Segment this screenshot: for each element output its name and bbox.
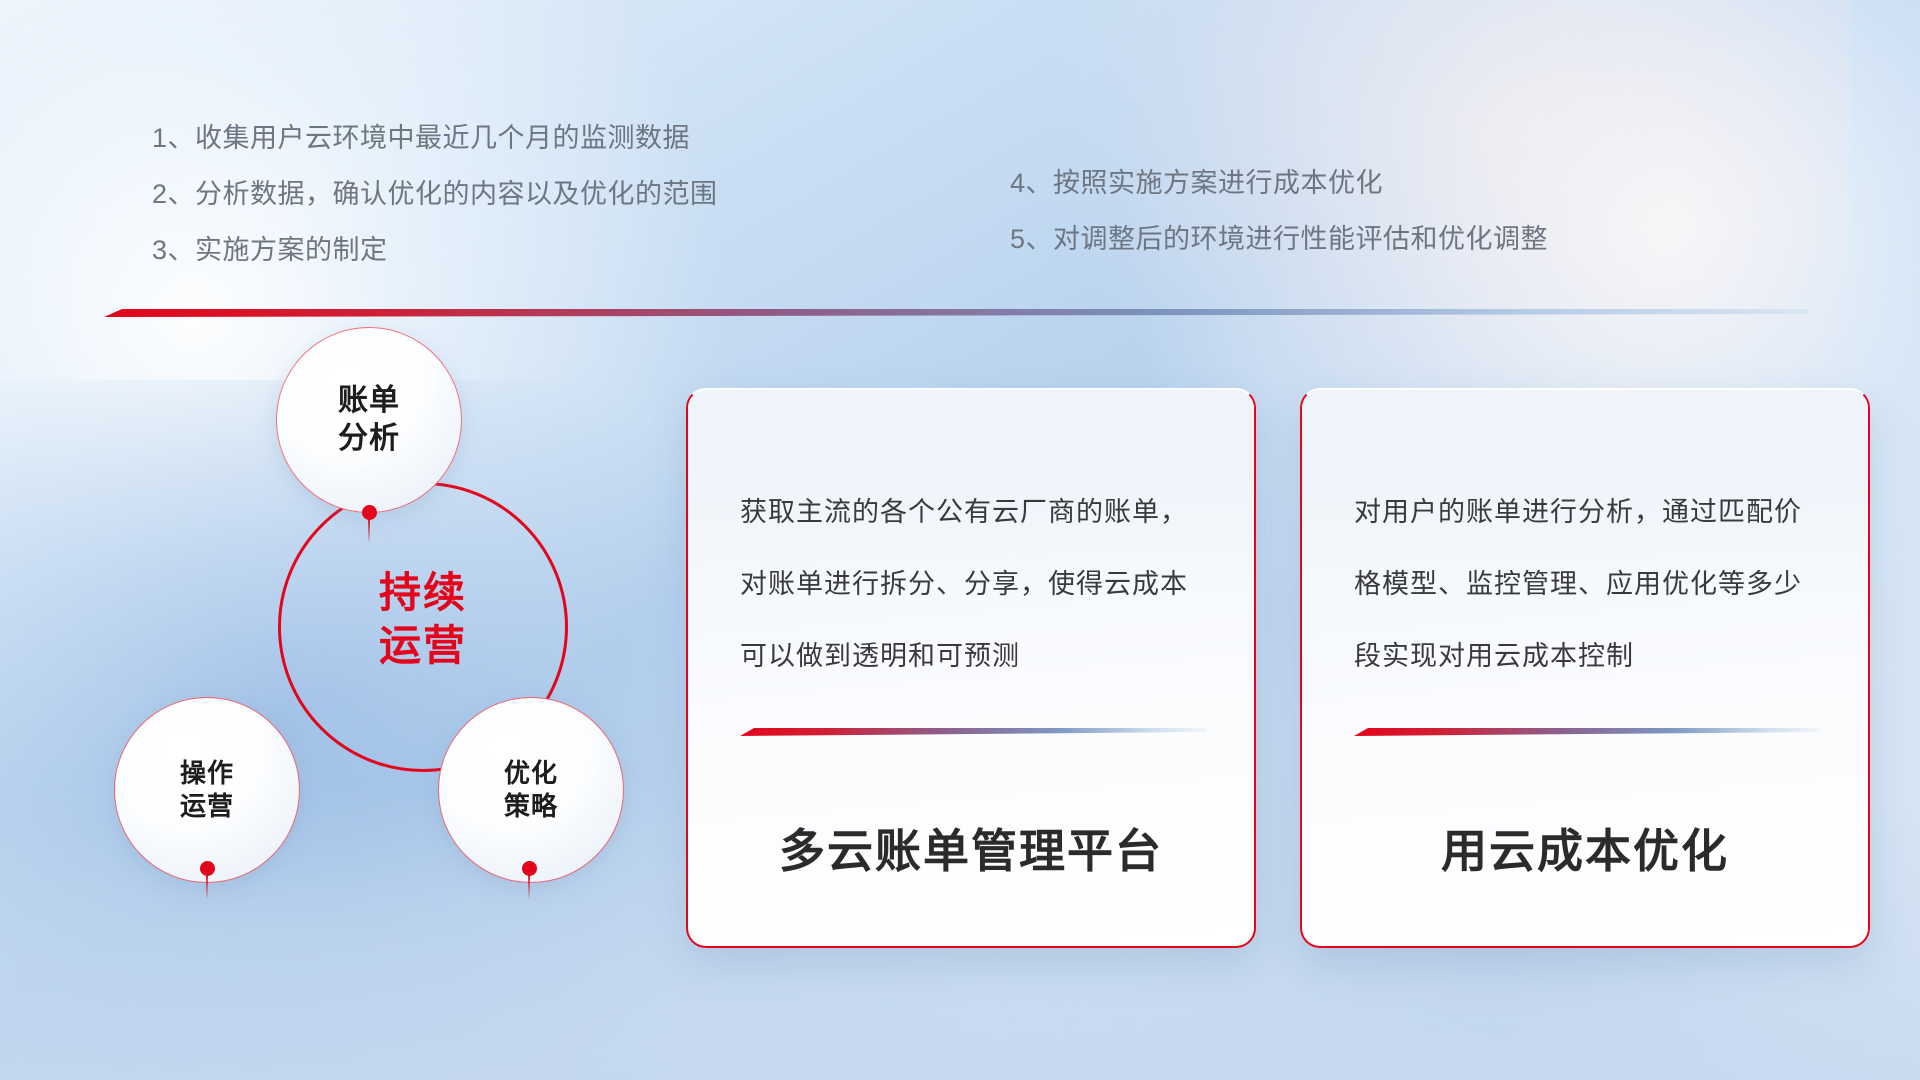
venn-node-dot-icon: [522, 861, 537, 876]
steps-right-column: 4、按照实施方案进行成本优化 5、对调整后的环境进行性能评估和优化调整: [1010, 155, 1548, 267]
step-item: 5、对调整后的环境进行性能评估和优化调整: [1010, 211, 1548, 267]
venn-bubble-line-2: 分析: [338, 420, 400, 458]
feature-card-multicloud-billing[interactable]: 获取主流的各个公有云厂商的账单，对账单进行拆分、分享，使得云成本可以做到透明和可…: [686, 388, 1256, 948]
venn-center-line-2: 运营: [280, 620, 566, 673]
venn-bubble-line-2: 策略: [504, 790, 558, 823]
venn-bubble-line-1: 操作: [180, 757, 234, 790]
venn-bubble-line-2: 运营: [180, 790, 234, 823]
step-item: 2、分析数据，确认优化的内容以及优化的范围: [152, 166, 718, 222]
venn-node-dot-icon: [362, 505, 377, 520]
card-accent-rule: [740, 728, 1206, 736]
feature-card-title: 多云账单管理平台: [688, 815, 1254, 881]
feature-card-description: 获取主流的各个公有云厂商的账单，对账单进行拆分、分享，使得云成本可以做到透明和可…: [688, 390, 1254, 692]
venn-bubble-line-1: 账单: [338, 382, 400, 420]
step-item: 1、收集用户云环境中最近几个月的监测数据: [152, 110, 718, 166]
venn-bubble-line-1: 优化: [504, 757, 558, 790]
venn-bubble-label: 操作 运营: [180, 757, 234, 824]
step-item: 4、按照实施方案进行成本优化: [1010, 155, 1548, 211]
feature-card-description: 对用户的账单进行分析，通过匹配价格模型、监控管理、应用优化等多少段实现对用云成本…: [1302, 390, 1868, 692]
venn-center-label: 持续 运营: [280, 567, 566, 673]
step-item: 3、实施方案的制定: [152, 222, 718, 278]
feature-card-title: 用云成本优化: [1302, 815, 1868, 881]
feature-card-cloud-cost-optimization[interactable]: 对用户的账单进行分析，通过匹配价格模型、监控管理、应用优化等多少段实现对用云成本…: [1300, 388, 1870, 948]
venn-bubble-billing-analysis[interactable]: 账单 分析: [276, 327, 462, 513]
venn-bubble-optimization-strategy[interactable]: 优化 策略: [438, 697, 624, 883]
venn-center-line-1: 持续: [280, 567, 566, 620]
venn-bubble-label: 优化 策略: [504, 757, 558, 824]
venn-node-dot-icon: [200, 861, 215, 876]
section-divider: [104, 308, 1808, 317]
venn-diagram: 持续 运营 账单 分析 操作 运营 优化 策略: [90, 345, 650, 965]
card-accent-rule: [1354, 728, 1820, 736]
venn-bubble-label: 账单 分析: [338, 382, 400, 459]
steps-left-column: 1、收集用户云环境中最近几个月的监测数据 2、分析数据，确认优化的内容以及优化的…: [152, 110, 718, 278]
venn-bubble-operations[interactable]: 操作 运营: [114, 697, 300, 883]
